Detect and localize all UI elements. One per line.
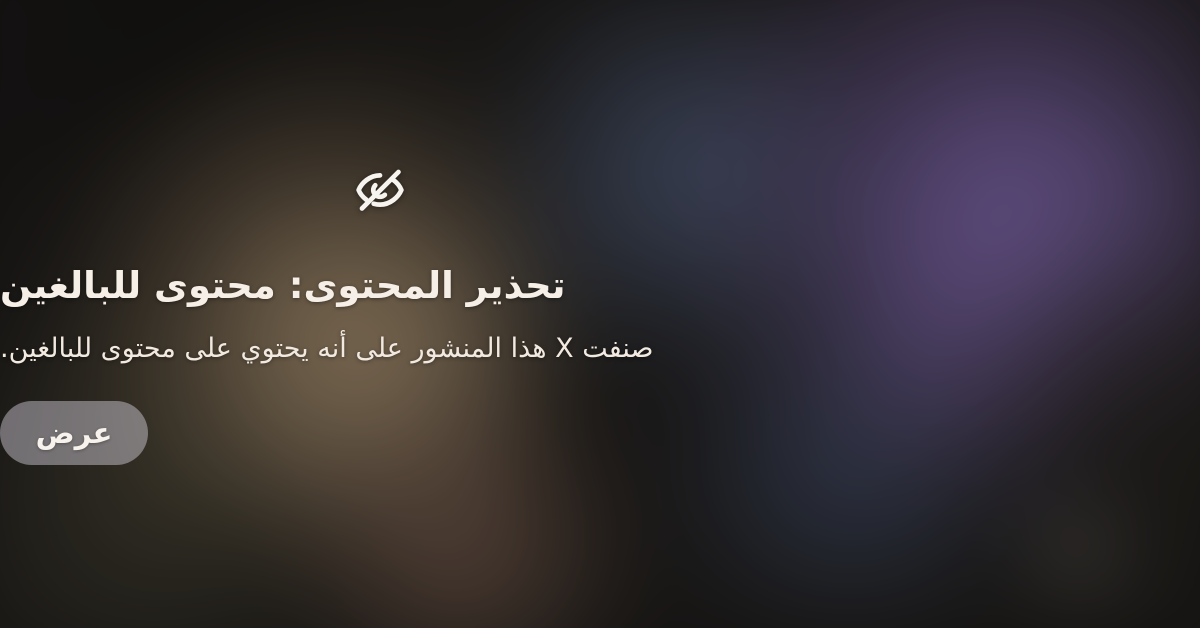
- content-warning-overlay: تحذير المحتوى: محتوى للبالغين صنفت X هذا…: [0, 0, 1200, 628]
- content-warning-screen: تحذير المحتوى: محتوى للبالغين صنفت X هذا…: [0, 0, 1200, 628]
- content-warning-description: صنفت X هذا المنشور على أنه يحتوي على محت…: [0, 331, 653, 367]
- content-warning-title: تحذير المحتوى: محتوى للبالغين: [0, 263, 566, 309]
- warning-icon-row: [0, 163, 980, 217]
- eye-off-icon: [353, 163, 407, 217]
- view-content-button[interactable]: عرض: [0, 401, 148, 465]
